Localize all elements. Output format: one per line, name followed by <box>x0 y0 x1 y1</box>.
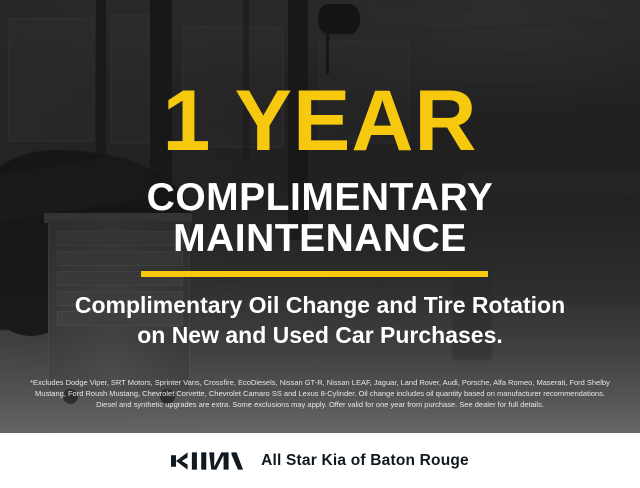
subheadline-line-2: MAINTENANCE <box>0 218 640 259</box>
disclaimer-line-2: Mustang, Ford Roush Mustang, Chevrolet C… <box>14 388 626 399</box>
dealer-name: All Star Kia of Baton Rouge <box>261 452 469 470</box>
subheadline: COMPLIMENTARY MAINTENANCE <box>0 177 640 259</box>
kia-logo <box>171 450 243 472</box>
yellow-divider-rule <box>141 271 488 277</box>
disclaimer-line-3: Diesel and synthetic upgrades are extra.… <box>14 399 626 410</box>
disclaimer-line-1: *Excludes Dodge Viper, SRT Motors, Sprin… <box>14 377 626 388</box>
dealer-footer: All Star Kia of Baton Rouge <box>0 433 640 488</box>
promo-description: Complimentary Oil Change and Tire Rotati… <box>0 290 640 350</box>
promo-line-1: Complimentary Oil Change and Tire Rotati… <box>75 292 565 318</box>
banner-content: 1 YEAR COMPLIMENTARY MAINTENANCE Complim… <box>0 0 640 488</box>
subheadline-line-1: COMPLIMENTARY <box>147 176 494 219</box>
headline-one-year: 1 YEAR <box>0 78 640 164</box>
promo-line-2: on New and Used Car Purchases. <box>0 320 640 350</box>
disclaimer-text: *Excludes Dodge Viper, SRT Motors, Sprin… <box>14 377 626 410</box>
promo-banner: 1 YEAR COMPLIMENTARY MAINTENANCE Complim… <box>0 0 640 488</box>
